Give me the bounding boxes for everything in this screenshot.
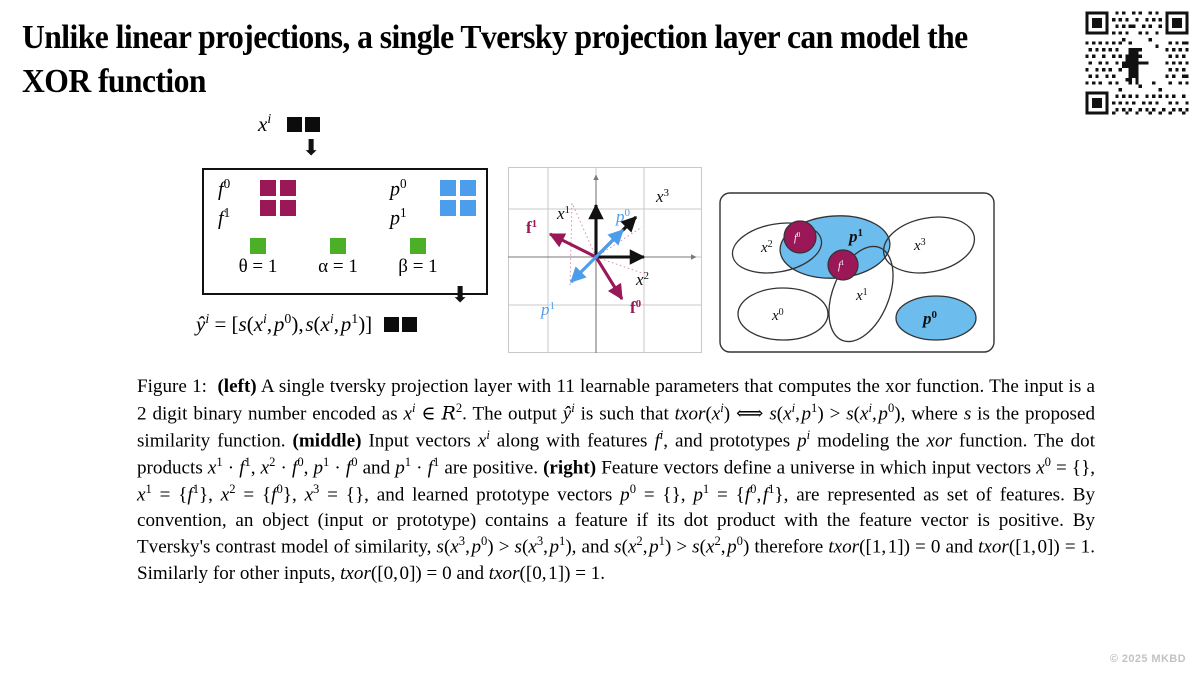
parameter-theta-label: θ = 1 [239, 256, 278, 277]
tversky-projection-layer-block: xi ⬇ f0 f1 p0 p1 [196, 105, 496, 363]
parameter-alpha: α = 1 [304, 238, 372, 278]
feature-square [260, 180, 276, 196]
parameter-alpha-label: α = 1 [318, 256, 358, 277]
input-bits [287, 117, 320, 132]
caption-tag-left: (left) [217, 376, 256, 397]
feature-set-universe: x2 x3 x0 x1 p1 p0 f0 f1 [718, 190, 996, 355]
input-row: xi [258, 111, 320, 137]
prototype-squares [440, 180, 476, 216]
prototype-label-p0: p0 [390, 176, 407, 202]
feature-label-f1: f1 [218, 205, 230, 231]
output-bit-0 [384, 317, 399, 332]
parameter-theta: θ = 1 [224, 238, 292, 278]
caption-tag-right: (right) [543, 457, 596, 478]
feature-square [260, 200, 276, 216]
output-bits [384, 317, 417, 332]
parameter-square [250, 238, 266, 254]
feature-square [280, 180, 296, 196]
parameter-square [330, 238, 346, 254]
prototype-label-p1: p1 [390, 205, 407, 231]
slide-root: Unlike linear projections, a single Tver… [0, 0, 1200, 675]
qr-code[interactable] [1082, 8, 1192, 118]
feature-label-f0: f0 [218, 176, 230, 202]
prototype-square [440, 180, 456, 196]
arrow-down-icon-output: ⬇ [451, 285, 469, 307]
page-title: Unlike linear projections, a single Tver… [22, 16, 971, 103]
prototype-square [440, 200, 456, 216]
caption-figure-number: Figure 1: [137, 376, 207, 397]
figure-caption: Figure 1: (left) A single tversky projec… [137, 374, 1095, 586]
caption-tag-middle: (middle) [293, 430, 362, 451]
output-equation: ŷi = [s(xi, p0), s(xi, p1)] [196, 311, 372, 337]
parameter-beta-label: β = 1 [398, 256, 437, 277]
prototype-square [460, 180, 476, 196]
output-bit-1 [402, 317, 417, 332]
parameter-square [410, 238, 426, 254]
prototype-square [460, 200, 476, 216]
feature-square [280, 200, 296, 216]
arrow-down-icon-input: ⬇ [302, 138, 320, 160]
feature-squares [260, 180, 296, 216]
figure-area: xi ⬇ f0 f1 p0 p1 [0, 105, 1200, 370]
parameter-beta: β = 1 [384, 238, 452, 278]
input-label: xi [258, 111, 271, 137]
input-bit-1 [305, 117, 320, 132]
layer-box: f0 f1 p0 p1 [202, 168, 488, 295]
input-bit-0 [287, 117, 302, 132]
vector-diagram: x1 x2 x3 p0 p1 f1 f0 [508, 167, 702, 353]
caption-param-count: 11 [556, 376, 574, 397]
copyright-footer: © 2025 MKBD [1110, 653, 1186, 665]
parameters-row: θ = 1 α = 1 β = 1 [218, 238, 476, 292]
output-row: ŷi = [s(xi, p0), s(xi, p1)] [196, 311, 417, 337]
